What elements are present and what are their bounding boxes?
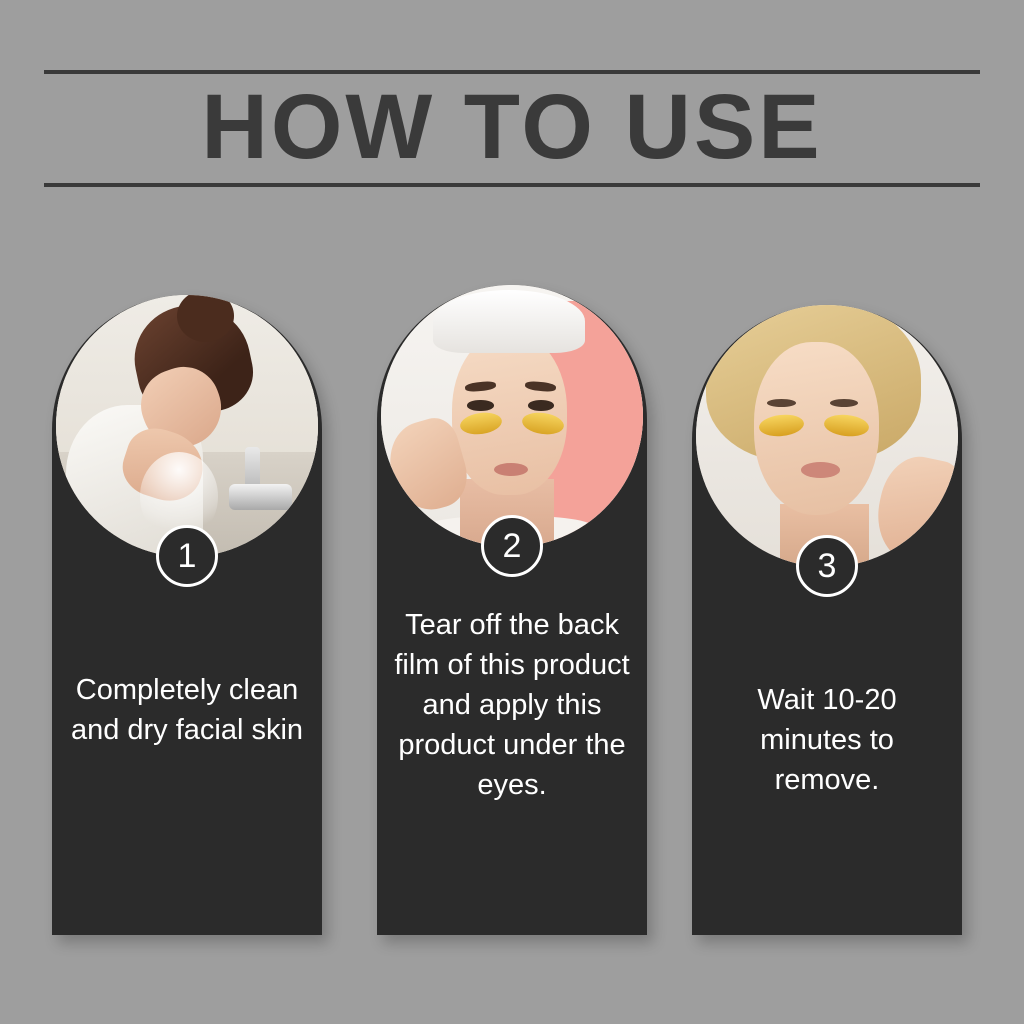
step-card-2: 2 Tear off the back film of this product… — [377, 285, 647, 935]
step-card-1: 1 Completely clean and dry facial skin — [52, 295, 322, 935]
step-2-caption: Tear off the back film of this product a… — [391, 605, 633, 805]
step-2-photo — [381, 285, 643, 547]
how-to-use-poster: HOW TO USE 1 Completely — [0, 0, 1024, 1024]
page-title: HOW TO USE — [44, 74, 980, 183]
wearing-patches-illustration — [696, 305, 958, 567]
step-2-number-badge: 2 — [481, 515, 543, 577]
washing-face-illustration — [56, 295, 318, 557]
step-1-photo — [56, 295, 318, 557]
step-1-number-badge: 1 — [156, 525, 218, 587]
step-3-caption: Wait 10-20 minutes to remove. — [706, 680, 948, 800]
title-block: HOW TO USE — [44, 70, 980, 187]
applying-patch-illustration — [381, 285, 643, 547]
step-1-caption: Completely clean and dry facial skin — [66, 670, 308, 750]
step-card-3: 3 Wait 10-20 minutes to remove. — [692, 305, 962, 935]
steps-container: 1 Completely clean and dry facial skin — [0, 285, 1024, 945]
title-rule-bottom — [44, 183, 980, 187]
step-3-photo — [696, 305, 958, 567]
step-3-number-badge: 3 — [796, 535, 858, 597]
